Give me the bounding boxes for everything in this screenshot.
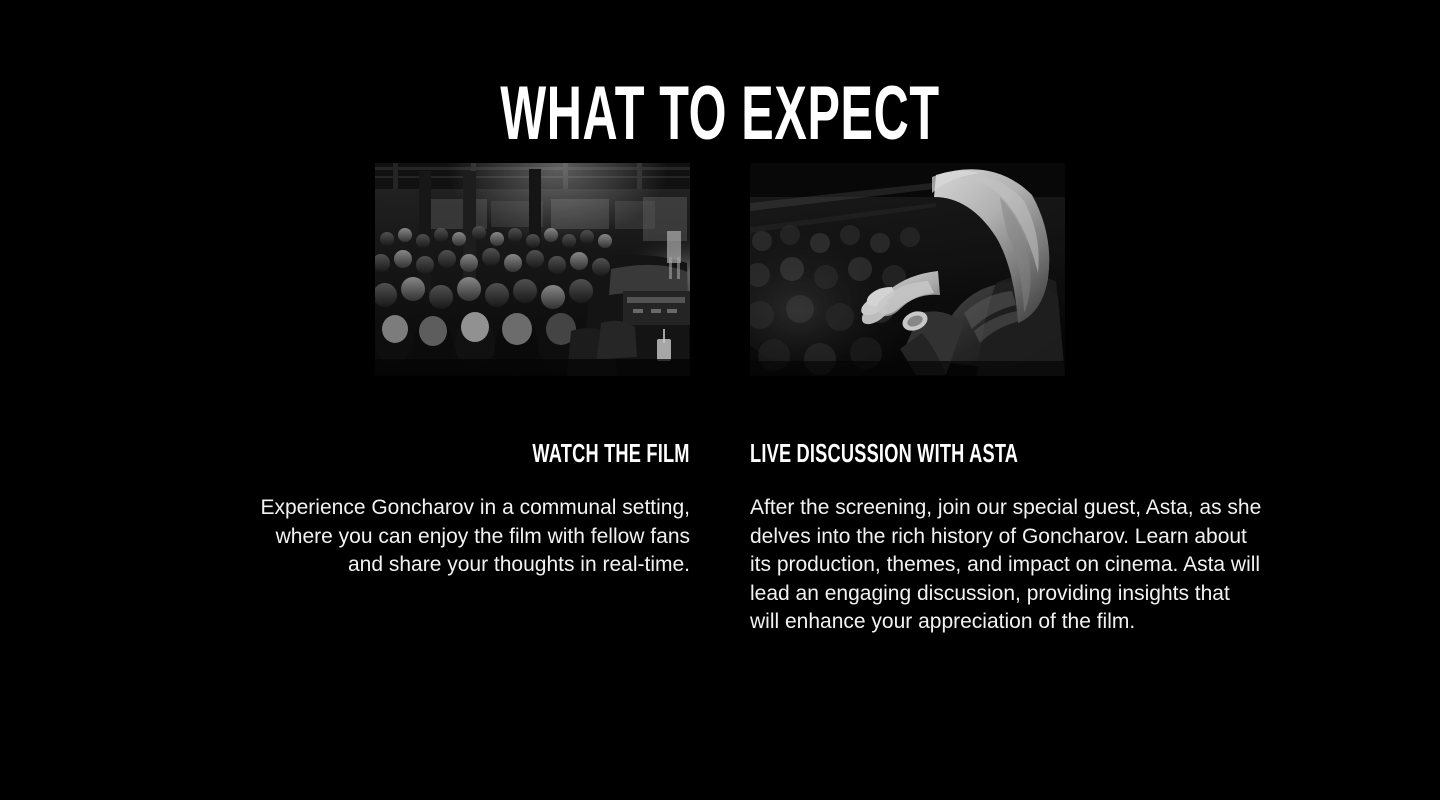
speaker-addressing-audience-photo: [750, 163, 1065, 376]
column-heading-live-discussion: LIVE DISCUSSION WITH ASTA: [750, 440, 1018, 466]
column-watch-the-film: WATCH THE FILM Experience Goncharov in a…: [375, 163, 690, 580]
body-line: Experience Goncharov in a communal setti…: [260, 496, 690, 548]
column-body-watch-the-film: Experience Goncharov in a communal setti…: [250, 494, 690, 580]
body-line: After the screening, join our special gu…: [750, 496, 1261, 633]
page-title: WHAT TO EXPECT: [259, 73, 1181, 155]
column-body-live-discussion: After the screening, join our special gu…: [750, 494, 1262, 637]
what-to-expect-section: WHAT TO EXPECT: [0, 0, 1440, 800]
column-live-discussion: LIVE DISCUSSION WITH ASTA After the scre…: [750, 163, 1065, 637]
body-line: and share your thoughts in real-time.: [348, 553, 690, 576]
column-heading-watch-the-film: WATCH THE FILM: [533, 440, 690, 466]
audience-crowd-venue-photo: [375, 163, 690, 376]
columns-container: WATCH THE FILM Experience Goncharov in a…: [0, 163, 1440, 637]
